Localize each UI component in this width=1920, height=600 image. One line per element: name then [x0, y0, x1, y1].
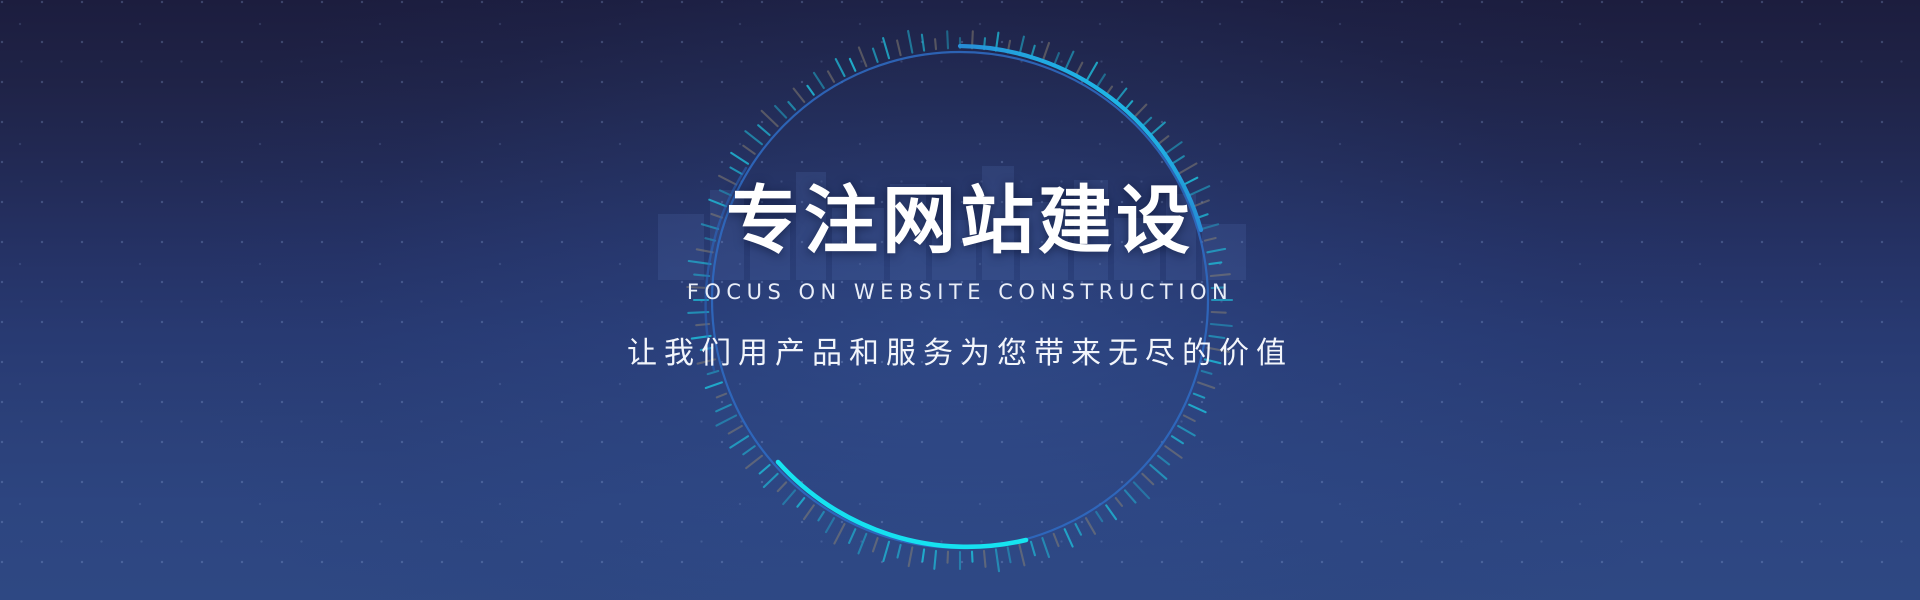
- hero-banner: 专注网站建设 FOCUS ON WEBSITE CONSTRUCTION 让我们…: [0, 0, 1920, 600]
- ring-tick-marks: [687, 31, 1232, 571]
- banner-subtitle-english: FOCUS ON WEBSITE CONSTRUCTION: [0, 280, 1920, 304]
- banner-content: 专注网站建设 FOCUS ON WEBSITE CONSTRUCTION 让我们…: [0, 184, 1920, 372]
- ring-base-circle: [712, 52, 1208, 548]
- arc-bottom-left: [778, 462, 1026, 547]
- dotted-grid-pattern-secondary: [0, 0, 1920, 600]
- city-skyline-icon: [640, 150, 1280, 280]
- page-title: 专注网站建设: [0, 184, 1920, 258]
- arc-left-faint: [706, 168, 746, 370]
- circular-ring-graphic: [650, 0, 1270, 600]
- banner-tagline: 让我们用产品和服务为您带来无尽的价值: [0, 328, 1920, 372]
- arc-top-right: [960, 46, 1201, 230]
- dotted-grid-pattern: [0, 0, 1920, 600]
- center-glow: [210, 0, 1710, 600]
